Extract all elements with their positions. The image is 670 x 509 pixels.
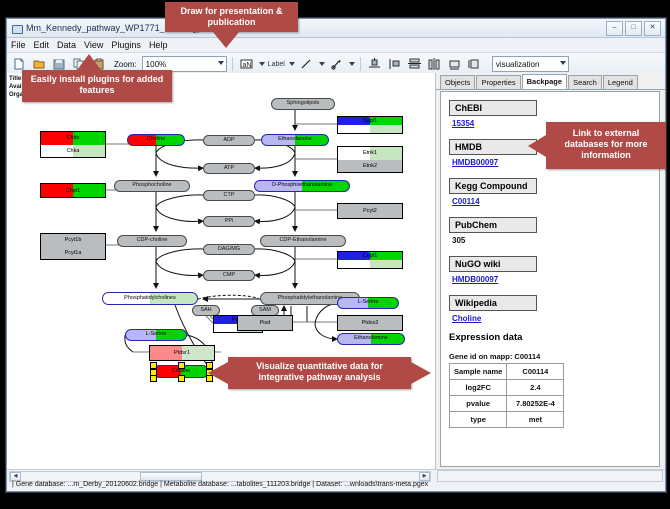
node-ctp[interactable]: CTP xyxy=(203,190,255,201)
window-controls: – □ ✕ xyxy=(606,21,661,36)
title-bar: Mm_Kennedy_pathway_WP1771_45176.gpml – □… xyxy=(7,19,665,38)
node-label: ATP xyxy=(224,166,234,172)
tab-properties[interactable]: Properties xyxy=(476,75,520,89)
node-label: Ethanolamine xyxy=(354,336,388,342)
table-row: type met xyxy=(450,412,564,428)
node-label: Choline xyxy=(147,137,166,143)
status-bar: ◀ ▶ | Gene database: ...m_Derby_20120602… xyxy=(7,469,665,491)
pathway-canvas[interactable]: Title: Availa Organ xyxy=(7,73,436,469)
callout-link-pointer xyxy=(528,135,546,157)
align-left-icon[interactable] xyxy=(386,56,403,73)
gene-chpt1[interactable]: Chpt1 xyxy=(40,183,106,198)
gene-ptdsr1[interactable]: Ptdsr1 xyxy=(149,345,215,361)
section-header-nugo-wiki: NuGO wiki xyxy=(449,256,537,272)
gene-row-label: Pisd xyxy=(238,316,292,330)
callout-plugins-text: Easily install plugins for added feature… xyxy=(31,74,164,95)
chevron-down-icon[interactable] xyxy=(349,62,355,66)
node-l-serine-right[interactable]: L-Serine xyxy=(337,297,399,309)
node-label: L-Serine xyxy=(358,300,379,306)
gene-row-label: Chka xyxy=(41,145,105,158)
chevron-down-icon xyxy=(560,61,566,65)
node-sphingolipids[interactable]: Sphingolipids xyxy=(271,98,335,110)
cell-label: log2FC xyxy=(450,380,507,396)
node-phosphatidylcholines[interactable]: Phosphatidylcholines xyxy=(102,292,198,305)
section-link-kegg-compound[interactable]: C00114 xyxy=(452,197,655,206)
zoom-value: 100% xyxy=(146,60,166,69)
node-atp[interactable]: ATP xyxy=(203,163,255,174)
tab-objects[interactable]: Objects xyxy=(440,75,475,89)
tab-legend[interactable]: Legend xyxy=(603,75,638,89)
node-ethanolamine-bottom[interactable]: Ethanolamine xyxy=(337,333,405,345)
node-cdp-ethanolamine[interactable]: CDP-Ethanolamine xyxy=(260,235,346,247)
node-cmp[interactable]: CMP xyxy=(203,270,255,281)
callout-plugins-pointer xyxy=(77,54,101,70)
expression-data-title: Expression data xyxy=(449,332,655,343)
node-l-serine-left[interactable]: L-Serine xyxy=(125,329,187,341)
menu-item-view[interactable]: View xyxy=(84,40,103,50)
section-value-pubchem: 305 xyxy=(452,236,655,245)
expression-table: Sample name C00114 log2FC 2.4 pvalue 7.8… xyxy=(449,363,564,428)
gene-row-label xyxy=(338,125,402,133)
gene-row-label: Ptdsr1 xyxy=(150,346,214,360)
screenshot-root: Mm_Kennedy_pathway_WP1771_45176.gpml – □… xyxy=(0,0,670,509)
callout-draw-pointer xyxy=(213,32,239,48)
menu-item-data[interactable]: Data xyxy=(57,40,76,50)
node-label: CDP-choline xyxy=(137,238,168,244)
gene-etnk1-etnk2[interactable]: Etnk1Etnk2 xyxy=(337,146,403,173)
cell-label: Sample name xyxy=(450,364,507,380)
cell-label: pvalue xyxy=(450,396,507,412)
node-label: O-Phosphoethanolamine xyxy=(272,183,333,189)
selection-handle[interactable] xyxy=(178,375,185,382)
gene-id-line: Gene id on mapp: C00114 xyxy=(449,352,655,361)
toolbar-separator xyxy=(360,57,361,71)
gene-row-label xyxy=(338,260,402,268)
zoom-label: Zoom: xyxy=(114,60,137,69)
node-label: Sphingolipids xyxy=(287,101,320,107)
node-label: CDP-Ethanolamine xyxy=(279,238,326,244)
node-label: L-Serine xyxy=(146,332,167,338)
maximize-button[interactable]: □ xyxy=(625,21,642,36)
document-icon xyxy=(11,23,22,34)
node-label: Choline xyxy=(172,369,191,375)
callout-visualize-pointer-left xyxy=(208,362,228,384)
status-text: | Gene database: ...m_Derby_20120602.bri… xyxy=(12,481,428,488)
tab-search[interactable]: Search xyxy=(568,75,602,89)
node-label: Phosphatidylcholines xyxy=(124,296,176,302)
menu-item-plugins[interactable]: Plugins xyxy=(111,40,141,50)
chevron-down-icon[interactable] xyxy=(289,62,295,66)
callout-visualize: Visualize quantitative data for integrat… xyxy=(228,357,411,389)
same-width-icon[interactable] xyxy=(446,56,463,73)
node-label: Phosphocholine xyxy=(132,183,171,189)
close-button[interactable]: ✕ xyxy=(644,21,661,36)
callout-visualize-pointer-right xyxy=(411,362,431,384)
menu-item-help[interactable]: Help xyxy=(149,40,168,50)
gene-sgpl1[interactable]: Sgpl1 xyxy=(337,116,403,134)
gene-row-label: Cept1 xyxy=(338,252,402,260)
node-label: Phosphatidylethanolamine xyxy=(278,296,343,302)
cell-label: type xyxy=(450,412,507,428)
gene-pisd[interactable]: Pisd xyxy=(237,315,293,331)
table-row: Sample name C00114 xyxy=(450,364,564,380)
gene-row-label: Pcyt1b xyxy=(41,234,105,247)
node-label: SAH xyxy=(200,308,211,314)
section-header-wikipedia: Wikipedia xyxy=(449,295,537,311)
status-right-box xyxy=(437,470,663,482)
callout-draw-text: Draw for presentation & publication xyxy=(180,6,282,27)
gene-row-label: Etnk2 xyxy=(338,160,402,173)
scroll-right-icon[interactable]: ▶ xyxy=(419,472,430,481)
node-label: PPi xyxy=(225,219,234,225)
section-header-chebi: ChEBI xyxy=(449,100,537,116)
node-ethanolamine-top[interactable]: Ethanolamine xyxy=(261,134,329,146)
node-label: Ethanolamine xyxy=(278,137,312,143)
section-header-kegg-compound: Kegg Compound xyxy=(449,178,537,194)
section-header-hmdb: HMDB xyxy=(449,139,537,155)
gene-row-label: Chpt1 xyxy=(41,184,105,197)
label-tool-label[interactable]: Label xyxy=(268,61,285,68)
node-phosphocholine[interactable]: Phosphocholine xyxy=(114,180,190,192)
cell-value: 7.80252E-4 xyxy=(507,396,564,412)
tab-backpage[interactable]: Backpage xyxy=(522,74,567,89)
gene-row-label: Pcyt2 xyxy=(338,204,402,218)
selection-handle[interactable] xyxy=(178,362,185,369)
gene-row-label: Pcyt1a xyxy=(41,247,105,260)
node-choline-top[interactable]: Choline xyxy=(127,134,185,146)
callout-draw: Draw for presentation & publication xyxy=(165,2,298,32)
callout-plugins: Easily install plugins for added feature… xyxy=(22,70,172,102)
visualization-combobox[interactable]: visualization xyxy=(492,56,569,72)
section-link-nugo-wiki[interactable]: HMDB00097 xyxy=(452,275,655,284)
node-dagmag[interactable]: DAG/MG xyxy=(203,244,255,255)
node-ppi[interactable]: PPi xyxy=(203,216,255,227)
gene-row-label: Etnk1 xyxy=(338,147,402,160)
table-row: pvalue 7.80252E-4 xyxy=(450,396,564,412)
cell-value: 2.4 xyxy=(507,380,564,396)
callout-link-text: Link to external databases for more info… xyxy=(564,128,647,160)
node-label: CMP xyxy=(223,273,235,279)
section-link-wikipedia[interactable]: Choline xyxy=(452,314,655,323)
scrollbar-thumb[interactable] xyxy=(140,472,202,481)
selection-handle[interactable] xyxy=(150,375,157,382)
line-icon[interactable] xyxy=(298,56,315,73)
node-adp[interactable]: ADP xyxy=(203,135,255,146)
node-label: CTP xyxy=(224,193,235,199)
minimize-button[interactable]: – xyxy=(606,21,623,36)
distribute-vertical-icon[interactable] xyxy=(406,56,423,73)
chevron-down-icon[interactable] xyxy=(259,62,265,66)
align-top-icon[interactable] xyxy=(366,56,383,73)
callout-visualize-text: Visualize quantitative data for integrat… xyxy=(256,361,383,382)
gene-chkb-chka[interactable]: ChkbChka xyxy=(40,131,106,158)
node-label: DAG/MG xyxy=(218,247,240,253)
scroll-left-icon[interactable]: ◀ xyxy=(10,472,21,481)
gene-ptdss2[interactable]: Ptdss2 xyxy=(337,315,403,331)
gene-pcyt1b-pcyt1a[interactable]: Pcyt1bPcyt1a xyxy=(40,233,106,260)
node-o-phosphoethanolamine[interactable]: O-Phosphoethanolamine xyxy=(254,180,350,192)
side-panel-tabs: Objects Properties Backpage Search Legen… xyxy=(436,73,665,90)
gene-pcyt2[interactable]: Pcyt2 xyxy=(337,203,403,219)
cell-value: C00114 xyxy=(507,364,564,380)
gene-row-label: Chkb xyxy=(41,132,105,145)
distribute-horizontal-icon[interactable] xyxy=(426,56,443,73)
svg-text:aN: aN xyxy=(242,62,251,69)
gene-row-label: Ptdss2 xyxy=(338,316,402,330)
gene-row-label: Sgpl1 xyxy=(338,117,402,125)
datanode-icon[interactable]: aN xyxy=(238,56,255,73)
same-height-icon[interactable] xyxy=(466,56,483,73)
visualization-value: visualization xyxy=(496,60,540,69)
cell-value: met xyxy=(507,412,564,428)
callout-link: Link to external databases for more info… xyxy=(546,122,666,169)
node-label: ADP xyxy=(223,138,234,144)
gene-cept1[interactable]: Cept1 xyxy=(337,251,403,269)
node-label: SAM xyxy=(259,308,271,314)
node-cdp-choline[interactable]: CDP-choline xyxy=(117,235,187,247)
toolbar-separator xyxy=(232,57,233,71)
section-header-pubchem: PubChem xyxy=(449,217,537,233)
menu-item-file[interactable]: File xyxy=(11,40,26,50)
interaction-icon[interactable] xyxy=(328,56,345,73)
chevron-down-icon[interactable] xyxy=(319,62,325,66)
menu-bar: File Edit Data View Plugins Help xyxy=(7,38,665,53)
table-row: log2FC 2.4 xyxy=(450,380,564,396)
chevron-down-icon xyxy=(218,61,224,65)
menu-item-edit[interactable]: Edit xyxy=(34,40,50,50)
